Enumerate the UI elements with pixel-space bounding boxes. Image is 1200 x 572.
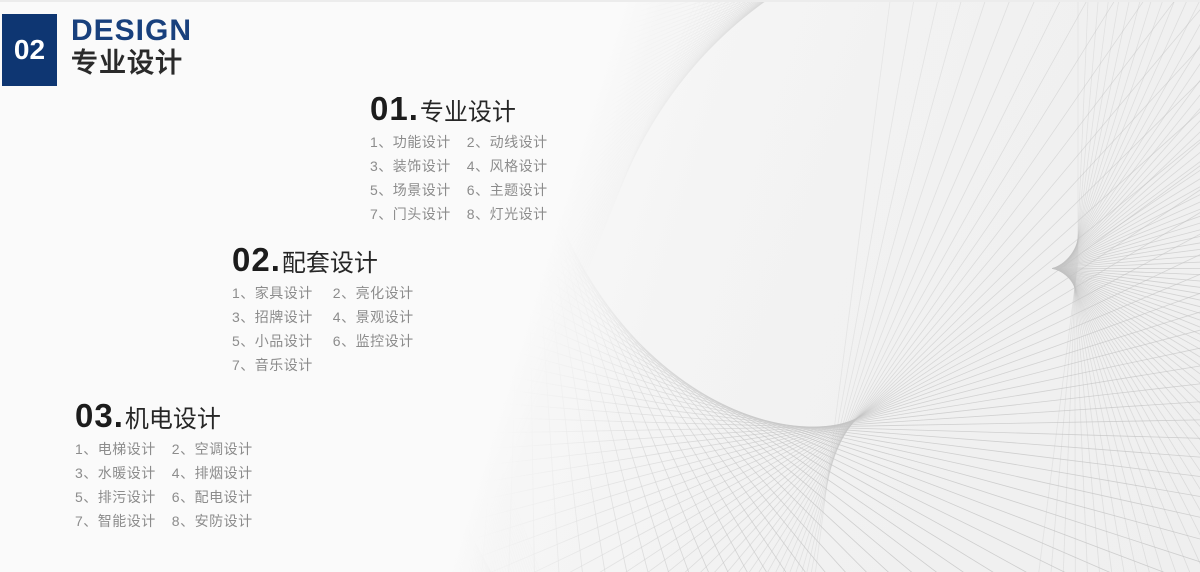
section-2-heading: 02. 配套设计 (232, 243, 414, 276)
list-item: 4、排烟设计 (172, 464, 253, 483)
list-item: 5、场景设计 (370, 181, 451, 200)
section-1-heading: 01. 专业设计 (370, 92, 548, 125)
section-1-item-list: 1、功能设计 2、动线设计 3、装饰设计 4、风格设计 5、场景设计 6、主题设… (370, 133, 548, 224)
section-2-number: 02. (232, 243, 281, 276)
list-item: 7、门头设计 (370, 205, 451, 224)
header-title-cn: 专业设计 (71, 47, 192, 79)
section-3-number: 03. (75, 399, 124, 432)
header-title-en: DESIGN (71, 15, 192, 47)
top-divider-line (0, 0, 1200, 2)
list-item: 2、空调设计 (172, 440, 253, 459)
list-item: 8、灯光设计 (467, 205, 548, 224)
list-item: 3、装饰设计 (370, 157, 451, 176)
list-item: 5、小品设计 (232, 332, 313, 351)
list-item: 6、配电设计 (172, 488, 253, 507)
list-item: 6、监控设计 (333, 332, 414, 351)
list-item: 1、电梯设计 (75, 440, 156, 459)
content-section-3: 03. 机电设计 1、电梯设计 2、空调设计 3、水暖设计 4、排烟设计 5、排… (75, 399, 253, 531)
section-3-item-list: 1、电梯设计 2、空调设计 3、水暖设计 4、排烟设计 5、排污设计 6、配电设… (75, 440, 253, 531)
list-item: 1、家具设计 (232, 284, 313, 303)
list-item: 1、功能设计 (370, 133, 451, 152)
list-item (333, 356, 414, 375)
section-3-heading: 03. 机电设计 (75, 399, 253, 432)
badge-number-label: 02 (14, 36, 45, 64)
list-item: 8、安防设计 (172, 512, 253, 531)
list-item: 3、水暖设计 (75, 464, 156, 483)
content-section-2: 02. 配套设计 1、家具设计 2、亮化设计 3、招牌设计 4、景观设计 5、小… (232, 243, 414, 375)
list-item: 7、智能设计 (75, 512, 156, 531)
section-3-title: 机电设计 (125, 408, 221, 432)
list-item: 4、景观设计 (333, 308, 414, 327)
section-1-title: 专业设计 (420, 101, 516, 125)
section-2-item-list: 1、家具设计 2、亮化设计 3、招牌设计 4、景观设计 5、小品设计 6、监控设… (232, 284, 414, 375)
slide-header: 02 DESIGN 专业设计 (2, 14, 192, 86)
list-item: 6、主题设计 (467, 181, 548, 200)
section-number-badge: 02 (2, 14, 57, 86)
list-item: 4、风格设计 (467, 157, 548, 176)
content-section-1: 01. 专业设计 1、功能设计 2、动线设计 3、装饰设计 4、风格设计 5、场… (370, 92, 548, 224)
list-item: 7、音乐设计 (232, 356, 313, 375)
list-item: 5、排污设计 (75, 488, 156, 507)
section-1-number: 01. (370, 92, 419, 125)
list-item: 2、亮化设计 (333, 284, 414, 303)
list-item: 2、动线设计 (467, 133, 548, 152)
section-2-title: 配套设计 (282, 252, 378, 276)
list-item: 3、招牌设计 (232, 308, 313, 327)
header-text-group: DESIGN 专业设计 (71, 15, 192, 79)
slide-canvas: 02 DESIGN 专业设计 01. 专业设计 1、功能设计 2、动线设计 3、… (0, 0, 1200, 572)
